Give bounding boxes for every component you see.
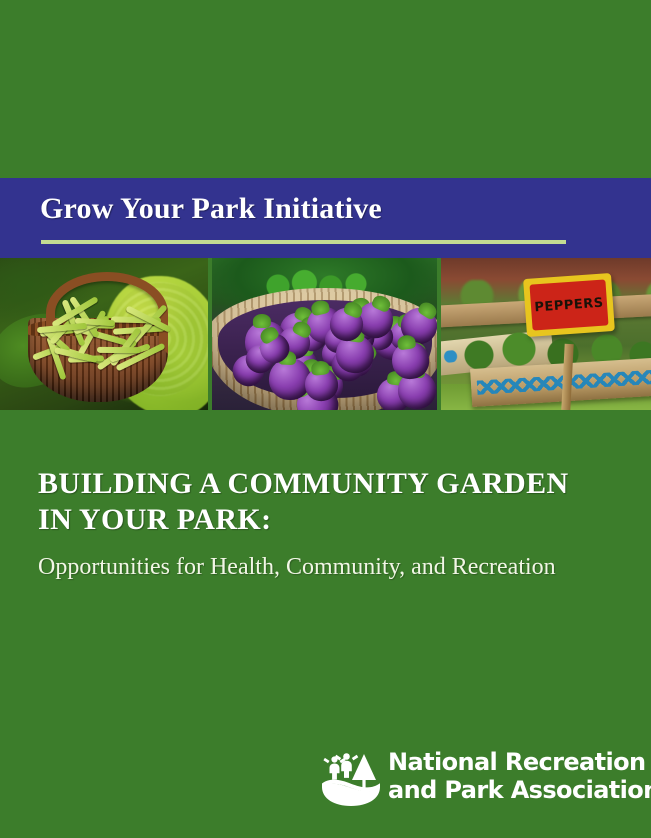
photo-garden-peppers-sign-text: PEPPERS [525,295,614,316]
nrpa-logo-mark [320,750,382,808]
photo-eggplant-pile [212,258,437,410]
cover-title-line-2: IN YOUR PARK: [38,502,628,538]
photo-beans-pile [26,306,182,366]
nrpa-logo: National Recreation and Park Association [320,748,630,810]
cover-title-line-1: BUILDING A COMMUNITY GARDEN [38,466,628,502]
banner-underline-rule [41,240,566,244]
cover-photo-strip: PEPPERS [0,258,651,410]
nrpa-wordmark: National Recreation and Park Association [388,748,651,804]
landscape-swoosh-icon [322,780,380,806]
photo-garden-peppers-sign: PEPPERS [523,273,615,337]
nrpa-wordmark-line-2: and Park Association [388,776,651,804]
initiative-banner-title: Grow Your Park Initiative [40,192,382,226]
report-cover-page: Grow Your Park Initiative [0,0,651,838]
photo-community-garden-beds: PEPPERS [441,258,651,410]
photo-eggplant-basket [212,258,437,410]
initiative-banner: Grow Your Park Initiative [0,178,651,258]
cover-subtitle: Opportunities for Health, Community, and… [38,552,628,582]
photo-green-beans-basket [0,258,208,410]
nrpa-wordmark-line-1: National Recreation [388,748,651,776]
cover-title-block: BUILDING A COMMUNITY GARDEN IN YOUR PARK… [38,466,628,582]
cover-title: BUILDING A COMMUNITY GARDEN IN YOUR PARK… [38,466,628,538]
people-icon [323,753,358,779]
